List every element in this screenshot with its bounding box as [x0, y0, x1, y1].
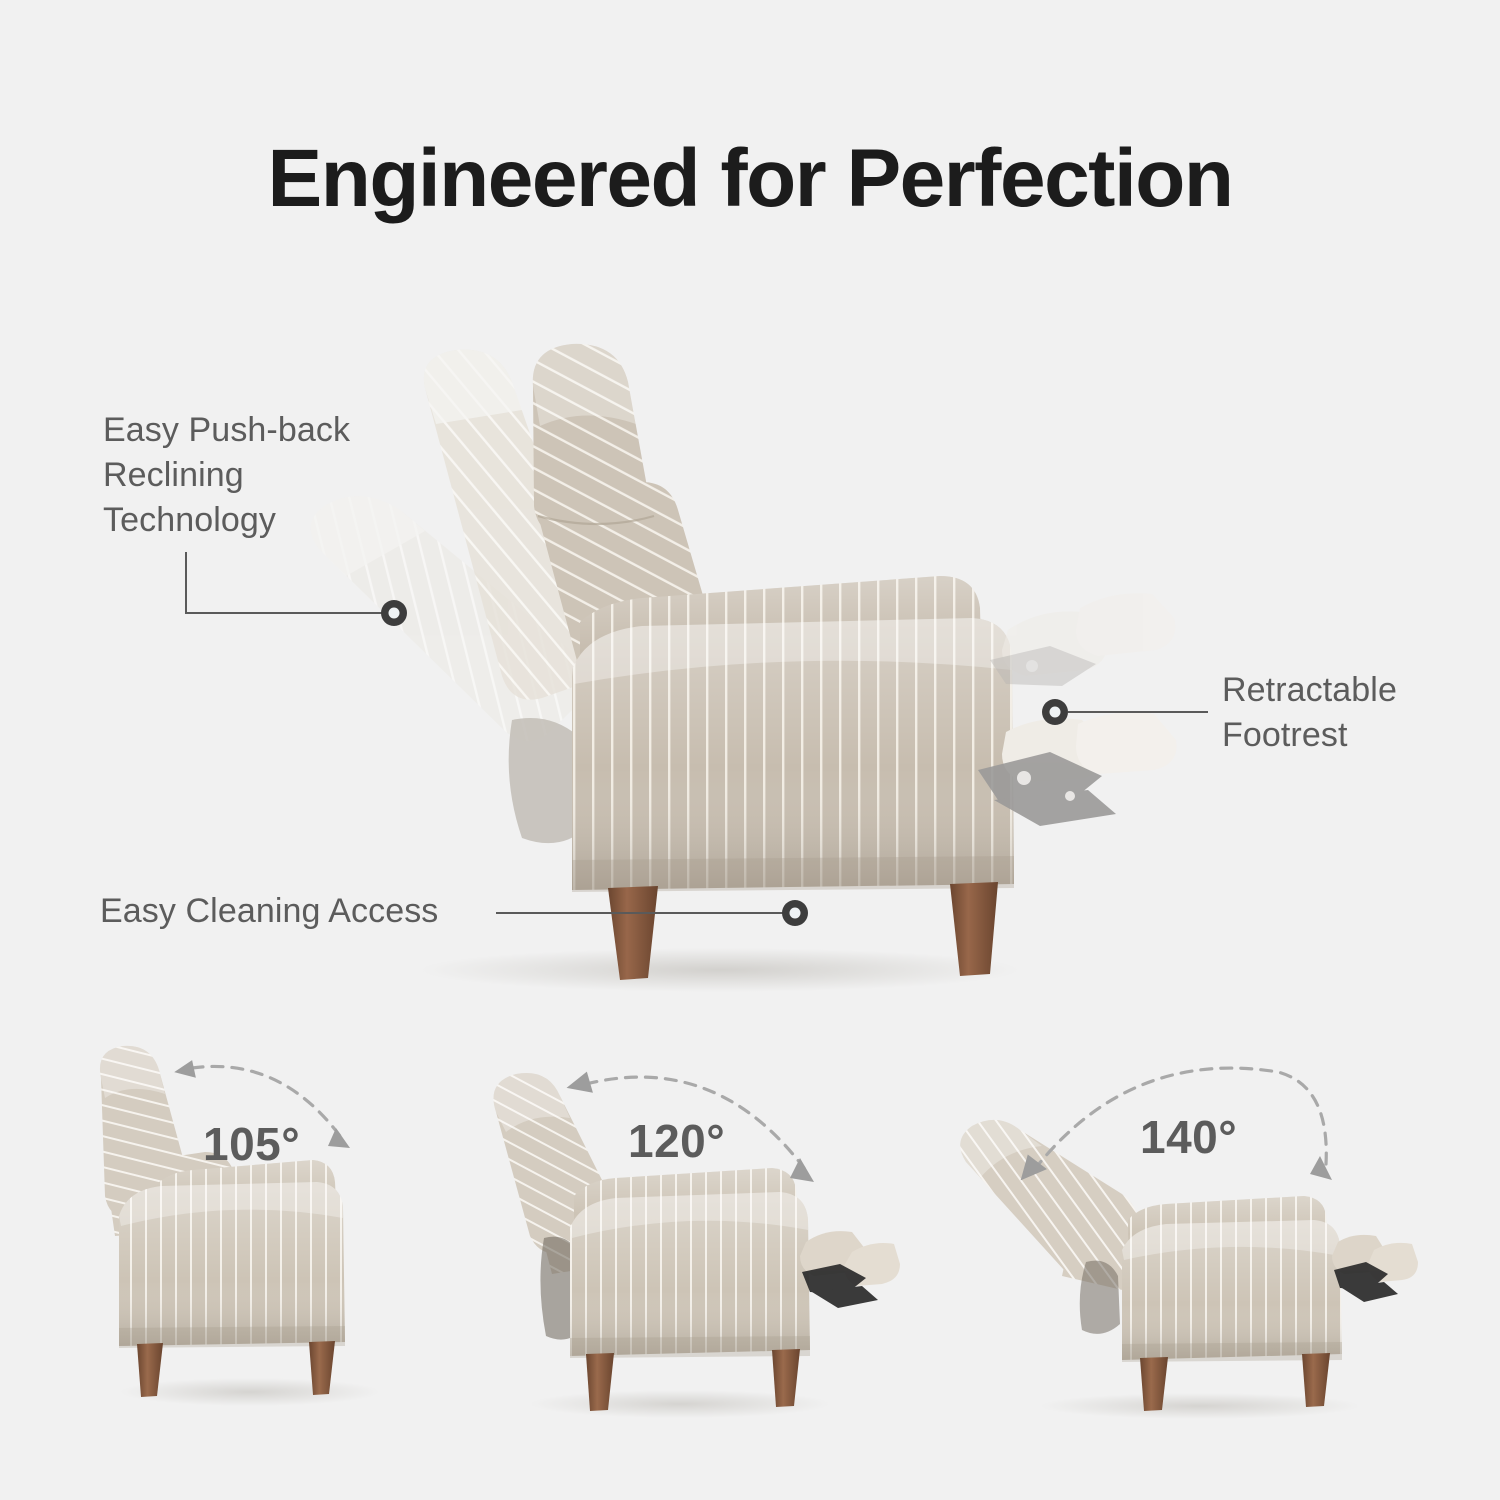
footrest-position-raised: [990, 593, 1175, 686]
footrest-extended: [800, 1231, 900, 1308]
callout-label-footrest: Retractable Footrest: [1222, 668, 1482, 758]
callout-marker-pushback[interactable]: [381, 600, 407, 626]
angle-label-120: 120°: [628, 1114, 725, 1168]
floor-shadow: [420, 948, 1020, 992]
recline-mechanism-shadow: [1080, 1261, 1120, 1334]
callout-connector-pushback-vertical: [185, 552, 187, 614]
callout-label-cleaning: Easy Cleaning Access: [100, 889, 520, 934]
footrest-extended: [1332, 1235, 1418, 1302]
callout-connector-pushback-horizontal: [185, 612, 395, 614]
callout-marker-cleaning[interactable]: [782, 900, 808, 926]
floor-shadow: [120, 1378, 380, 1406]
callout-connector-cleaning: [496, 912, 788, 914]
page-title: Engineered for Perfection: [0, 138, 1500, 220]
callout-connector-footrest: [1068, 711, 1208, 713]
callout-label-pushback: Easy Push-back Reclining Technology: [103, 408, 433, 543]
infographic-page: Engineered for Perfection: [0, 0, 1500, 1500]
angle-label-140: 140°: [1140, 1110, 1237, 1164]
angle-label-105: 105°: [203, 1117, 300, 1171]
callout-marker-footrest[interactable]: [1042, 699, 1068, 725]
